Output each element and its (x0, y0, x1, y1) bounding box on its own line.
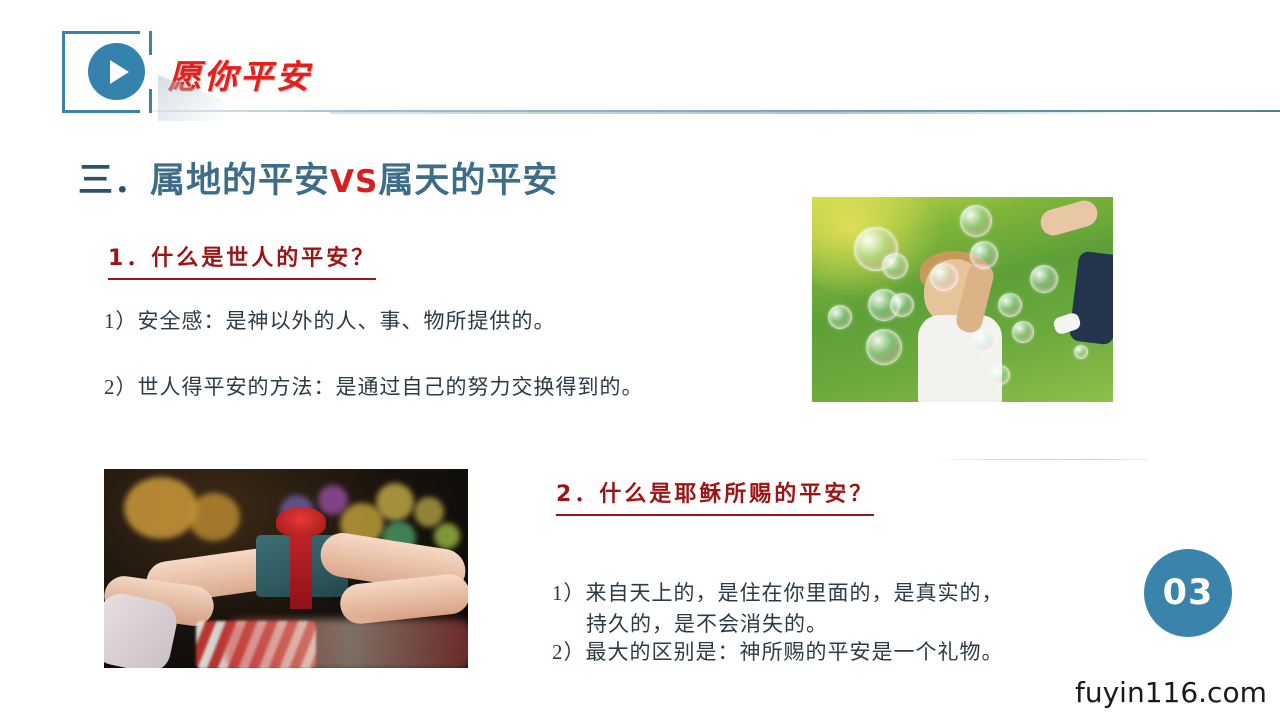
bubble (890, 293, 914, 317)
play-triangle-icon (110, 60, 129, 84)
page-title-part-b: 属天的平安 (378, 161, 558, 201)
header-divider-line-secondary (330, 112, 1160, 114)
page-title-part-a: 属地的平安 (150, 161, 330, 201)
page-number-text: 03 (1163, 573, 1214, 613)
bubble (970, 241, 998, 269)
bokeh-light (434, 523, 460, 549)
bubble (1030, 265, 1058, 293)
image-gift-exchange (104, 469, 468, 668)
bracket-top (62, 31, 140, 34)
mid-divider (942, 459, 1150, 460)
page-title-vs: VS (330, 164, 378, 200)
bubble (1012, 321, 1034, 343)
bubble (930, 263, 958, 291)
page-title-number: 三． (78, 161, 150, 201)
watermark: fuyin116.com (1075, 676, 1267, 709)
second-child-arm (1038, 198, 1101, 239)
bubble (828, 305, 852, 329)
bubble (990, 365, 1010, 385)
section-1-heading: 1．什么是世人的平安？ (108, 240, 376, 280)
bracket-bottom (62, 110, 140, 113)
section-2-heading: 2．什么是耶稣所赐的平安？ (556, 476, 874, 516)
bubble (882, 253, 908, 279)
bokeh-light (188, 493, 240, 541)
page-title: 三．属地的平安VS属天的平安 (78, 152, 558, 203)
slide: 愿你平安 三．属地的平安VS属天的平安 1．什么是世人的平安？ 1）安全感：是神… (0, 0, 1280, 720)
second-child-leg (1069, 251, 1113, 346)
section-1-line-1: 1）安全感：是神以外的人、事、物所提供的。 (104, 306, 556, 336)
gift-ribbon (290, 527, 312, 609)
slide-header: 愿你平安 (0, 0, 1280, 130)
bubble (866, 329, 902, 365)
section-1-line-2: 2）世人得平安的方法：是通过自己的努力交换得到的。 (104, 372, 644, 402)
bracket-left (62, 31, 65, 113)
section-2-line-2: 2）最大的区别是：神所赐的平安是一个礼物。 (552, 637, 1004, 667)
bokeh-light (414, 497, 444, 527)
bokeh-light (124, 477, 198, 539)
bubble (972, 329, 996, 353)
bracket-right-top (149, 31, 152, 55)
section-2-line-1a: 1）来自天上的，是住在你里面的，是真实的， (552, 581, 1004, 605)
bubble (960, 205, 992, 237)
bubble (1074, 345, 1088, 359)
gift-bow (276, 507, 326, 537)
tinsel-foreground (224, 619, 468, 668)
bokeh-light (376, 483, 414, 521)
logo-bracket-frame (62, 31, 152, 113)
right-hand-second (338, 572, 468, 625)
image-child-with-bubbles (812, 197, 1113, 402)
play-button-icon[interactable] (88, 43, 145, 100)
section-2-line-1b: 持久的，是不会消失的。 (552, 609, 1004, 639)
page-number-badge: 03 (1144, 549, 1232, 637)
bubble (998, 293, 1022, 317)
